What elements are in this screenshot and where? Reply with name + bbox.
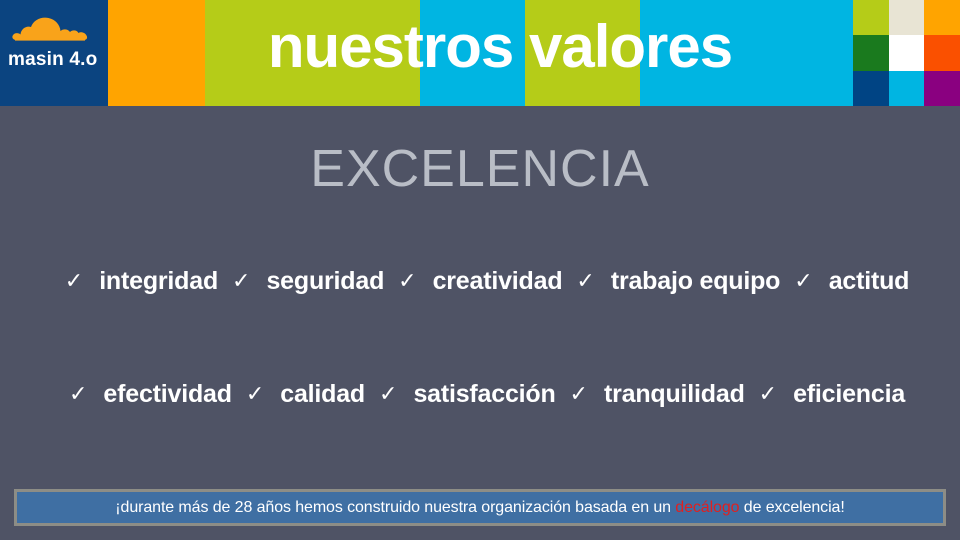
slide-canvas: masin 4.o nuestros valores EXCELENCIA ✓i… (0, 0, 960, 540)
header-divider (0, 106, 960, 110)
footer-banner: ¡durante más de 28 años hemos construido… (14, 489, 946, 526)
check-icon: ✓ (246, 383, 264, 405)
color-grid-cell-2 (889, 0, 925, 35)
value-label: satisfacción (413, 379, 555, 409)
value-label: trabajo equipo (611, 266, 780, 296)
color-grid-cell-4 (853, 35, 889, 70)
color-grid-decoration (853, 0, 960, 106)
value-item: ✓integridad (51, 266, 218, 296)
value-label: seguridad (266, 266, 384, 296)
check-icon: ✓ (232, 270, 250, 292)
color-grid-cell-1 (853, 0, 889, 35)
value-item: ✓trabajo equipo (562, 266, 780, 296)
slide-header: masin 4.o nuestros valores (0, 0, 960, 106)
color-grid-cell-6 (924, 35, 960, 70)
check-icon: ✓ (65, 270, 83, 292)
value-item: ✓actitud (780, 266, 909, 296)
check-icon: ✓ (794, 270, 812, 292)
check-icon: ✓ (398, 270, 416, 292)
value-item: ✓tranquilidad (556, 379, 745, 409)
color-grid-cell-3 (924, 0, 960, 35)
footer-text: ¡durante más de 28 años hemos construido… (115, 498, 844, 518)
check-icon: ✓ (379, 383, 397, 405)
value-label: creatividad (433, 266, 563, 296)
value-item: ✓calidad (232, 379, 365, 409)
page-title: nuestros valores (0, 0, 960, 106)
check-icon: ✓ (570, 383, 588, 405)
color-grid-cell-7 (853, 71, 889, 106)
footer-text-after: de excelencia! (739, 499, 844, 516)
value-item: ✓eficiencia (745, 379, 905, 409)
value-label: eficiencia (793, 379, 905, 409)
values-row-2: ✓efectividad✓calidad✓satisfacción✓tranqu… (0, 371, 960, 417)
footer-highlight-word: decálogo (675, 499, 739, 516)
value-label: integridad (99, 266, 218, 296)
values-row-1: ✓integridad✓seguridad✓creatividad✓trabaj… (0, 258, 960, 304)
color-grid-cell-5 (889, 35, 925, 70)
color-grid-cell-8 (889, 71, 925, 106)
value-label: efectividad (103, 379, 231, 409)
value-label: tranquilidad (604, 379, 745, 409)
value-item: ✓creatividad (384, 266, 562, 296)
check-icon: ✓ (69, 383, 87, 405)
footer-text-before: ¡durante más de 28 años hemos construido… (115, 499, 675, 516)
value-item: ✓efectividad (55, 379, 232, 409)
color-grid-cell-9 (924, 71, 960, 106)
value-label: actitud (829, 266, 910, 296)
check-icon: ✓ (759, 383, 777, 405)
check-icon: ✓ (576, 270, 594, 292)
section-title: EXCELENCIA (0, 138, 960, 200)
value-item: ✓satisfacción (365, 379, 556, 409)
value-item: ✓seguridad (218, 266, 384, 296)
value-label: calidad (280, 379, 365, 409)
